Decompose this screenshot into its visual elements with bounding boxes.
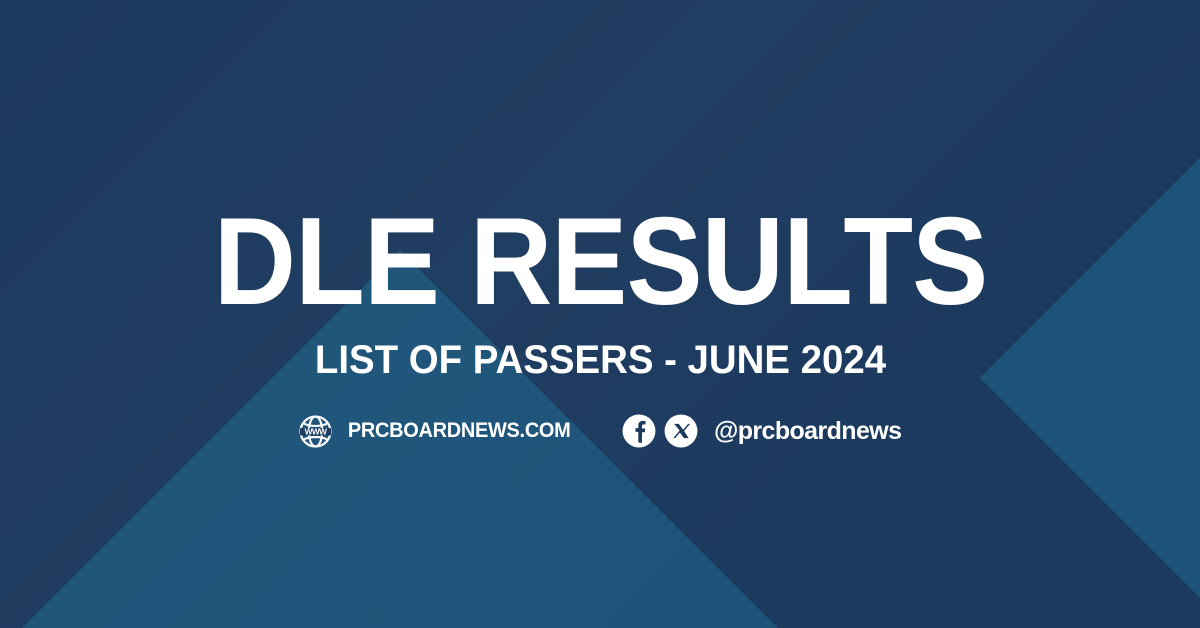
banner-title: DLE RESULTS <box>213 200 987 324</box>
social-handle-label: @prcboardnews <box>714 417 901 446</box>
social-group: @prcboardnews <box>622 414 901 448</box>
x-twitter-icon[interactable] <box>664 414 698 448</box>
banner-subtitle: LIST OF PASSERS - JUNE 2024 <box>314 340 885 380</box>
globe-www-icon: WWW <box>299 415 332 448</box>
globe-www-label: WWW <box>304 427 327 436</box>
facebook-icon[interactable] <box>622 414 656 448</box>
website-group[interactable]: WWW PRCBOARDNEWS.COM <box>299 415 576 448</box>
banner-footer: WWW PRCBOARDNEWS.COM <box>299 414 902 448</box>
banner-content: DLE RESULTS LIST OF PASSERS - JUNE 2024 … <box>0 0 1200 628</box>
promo-banner: DLE RESULTS LIST OF PASSERS - JUNE 2024 … <box>0 0 1200 628</box>
website-label: PRCBOARDNEWS.COM <box>347 419 570 443</box>
